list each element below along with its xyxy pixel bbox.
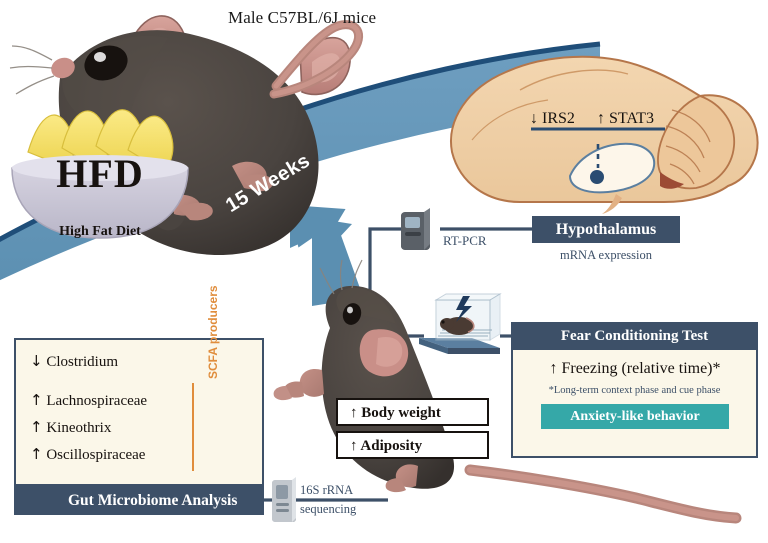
brain-gene-up-label: ↑ STAT3: [597, 110, 654, 128]
taxon-direction-arrow: ↓: [30, 352, 43, 370]
body-weight-box: ↑ Body weight: [336, 398, 489, 426]
fear-conditioning-title: Fear Conditioning Test: [511, 322, 758, 350]
brain-illustration: [451, 57, 758, 214]
taxon-name: Kineothrix: [43, 420, 112, 436]
rt-pcr-label: RT-PCR: [443, 233, 487, 249]
taxon-row: ↑ Oscillospiraceae: [30, 445, 145, 464]
hfd-bowl-label: HFD: [24, 150, 176, 197]
freezing-outcome: ↑ Freezing (relative time)*: [521, 360, 749, 378]
fear-conditioning-chamber-icon: [419, 294, 500, 354]
taxon-direction-arrow: ↑: [30, 391, 43, 409]
taxon-row: ↑ Kineothrix: [30, 418, 111, 437]
taxon-name: Clostridium: [43, 354, 118, 370]
freezing-footnote: *Long-term context phase and cue phase: [513, 385, 756, 396]
figure-canvas: Male C57BL/6J mice HFD High Fat Diet 15 …: [0, 0, 768, 543]
hypothalamus-box: Hypothalamus: [532, 216, 680, 243]
hfd-bowl-sublabel: High Fat Diet: [24, 224, 176, 240]
sequencing-label-line2: sequencing: [300, 502, 356, 517]
gut-microbiome-title: Gut Microbiome Analysis: [14, 486, 264, 515]
anxiety-badge: Anxiety-like behavior: [541, 404, 729, 429]
taxon-row: ↓ Clostridium: [30, 352, 118, 371]
hypothalamus-note: mRNA expression: [520, 248, 692, 263]
scfa-bracket: [192, 383, 194, 471]
brain-gene-down-label: ↓ IRS2: [530, 110, 575, 128]
rt-pcr-machine-icon: [401, 208, 430, 250]
taxon-direction-arrow: ↑: [30, 445, 43, 463]
scfa-producers-label: SCFA producers: [206, 285, 220, 379]
adiposity-box: ↑ Adiposity: [336, 431, 489, 459]
sequencer-icon: [272, 477, 296, 522]
taxon-name: Oscillospiraceae: [43, 447, 146, 463]
taxon-row: ↑ Lachnospiraceae: [30, 391, 147, 410]
taxon-name: Lachnospiraceae: [43, 393, 148, 409]
figure-title: Male C57BL/6J mice: [228, 8, 376, 28]
taxon-direction-arrow: ↑: [30, 418, 43, 436]
sequencing-label-line1: 16S rRNA: [300, 483, 353, 498]
